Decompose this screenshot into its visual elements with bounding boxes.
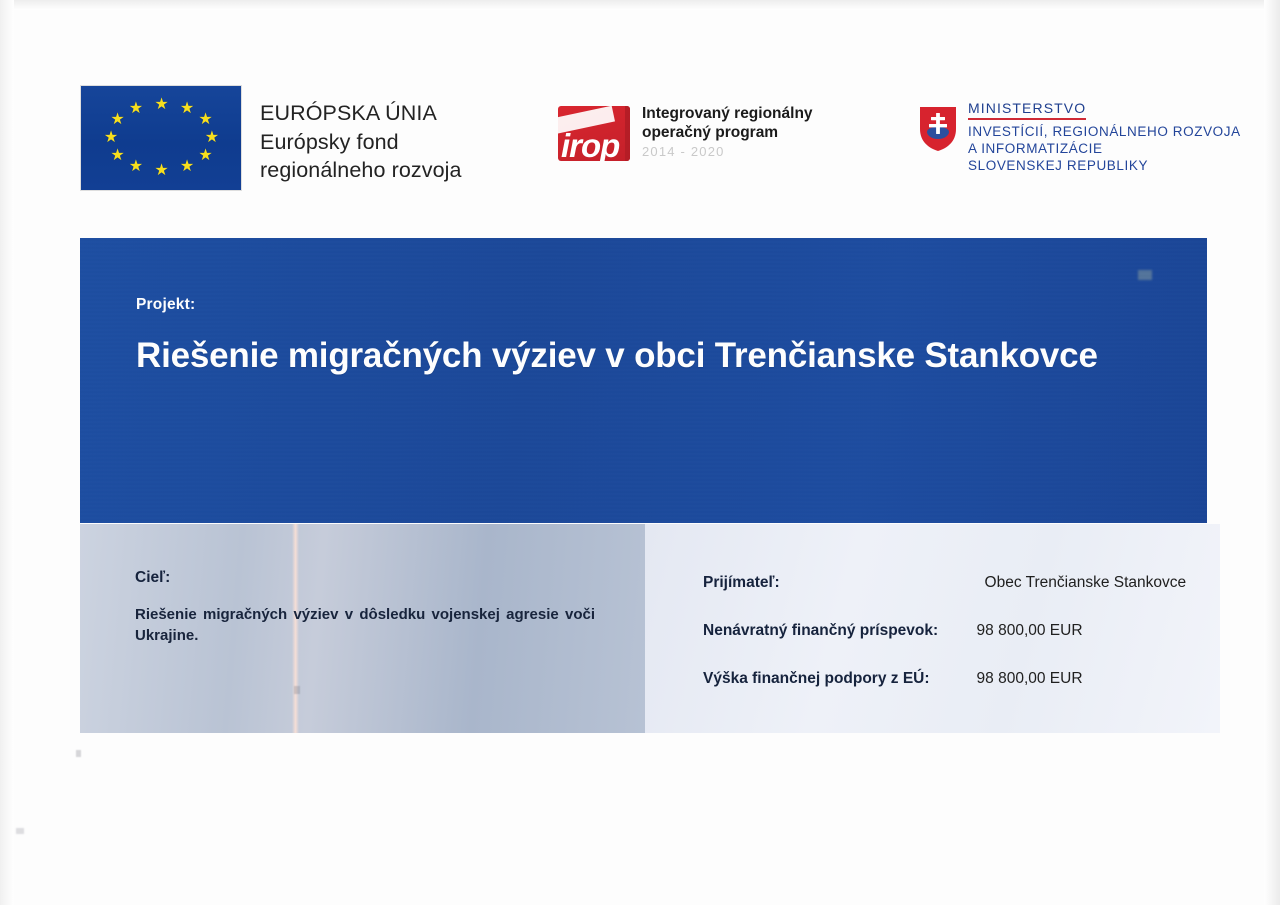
info-value-grant: 98 800,00 EUR <box>977 622 1203 670</box>
irop-wordmark: irop <box>561 127 619 161</box>
info-value-recipient: Obec Trenčianske Stankovce <box>977 574 1203 622</box>
page-title: Riešenie migračných výziev v obci Trenči… <box>136 336 1098 376</box>
document-page: ★ ★ ★ ★ ★ ★ ★ ★ ★ ★ ★ ★ EURÓPSKA ÚNIA Eu… <box>0 0 1280 905</box>
irop-bar <box>625 106 630 161</box>
info-panel: Prijímateľ: Obec Trenčianske Stankovce N… <box>645 524 1220 733</box>
info-label-recipient: Prijímateľ: <box>703 574 977 622</box>
eu-logo-text: EURÓPSKA ÚNIA Európsky fond regionálneho… <box>260 99 462 185</box>
irop-line-2: operačný program <box>642 123 813 142</box>
irop-logo-text: Integrovaný regionálny operačný program … <box>642 104 813 161</box>
table-row: Výška finančnej podpory z EÚ: 98 800,00 … <box>703 670 1203 688</box>
logo-strip: ★ ★ ★ ★ ★ ★ ★ ★ ★ ★ ★ ★ EURÓPSKA ÚNIA Eu… <box>0 78 1280 198</box>
projekt-label: Projekt: <box>136 296 195 314</box>
eu-logo-line-1: EURÓPSKA ÚNIA <box>260 99 462 128</box>
goal-label: Cieľ: <box>135 569 170 587</box>
table-row: Nenávratný finančný príspevok: 98 800,00… <box>703 622 1203 670</box>
scan-edge-top <box>0 0 1280 10</box>
project-banner: Projekt: Riešenie migračných výziev v ob… <box>80 238 1207 523</box>
table-row: Prijímateľ: Obec Trenčianske Stankovce <box>703 574 1203 622</box>
goal-text: Riešenie migračných výziev v dôsledku vo… <box>135 604 595 646</box>
info-label-grant: Nenávratný finančný príspevok: <box>703 622 977 670</box>
irop-logo-icon: irop <box>558 106 630 161</box>
scan-artifact <box>16 828 24 834</box>
goal-panel: Cieľ: Riešenie migračných výziev v dôsle… <box>80 524 645 733</box>
info-value-eu-support: 98 800,00 EUR <box>977 670 1203 688</box>
info-label-eu-support: Výška finančnej podpory z EÚ: <box>703 670 977 688</box>
ministry-line-4: SLOVENSKEJ REPUBLIKY <box>968 157 1241 174</box>
irop-years: 2014 - 2020 <box>642 143 813 161</box>
ministry-line-1: MINISTERSTVO <box>968 99 1086 120</box>
scan-artifact <box>76 750 81 757</box>
ministry-line-2: INVESTÍCIÍ, REGIONÁLNEHO ROZVOJA <box>968 123 1241 140</box>
ministry-logo-text: MINISTERSTVO INVESTÍCIÍ, REGIONÁLNEHO RO… <box>968 99 1241 174</box>
eu-flag-icon: ★ ★ ★ ★ ★ ★ ★ ★ ★ ★ ★ ★ <box>80 85 242 191</box>
eu-logo-line-2: Európsky fond <box>260 128 462 157</box>
irop-line-1: Integrovaný regionálny <box>642 104 813 123</box>
scan-artifact <box>294 686 300 694</box>
scan-artifact <box>1138 270 1152 280</box>
slovak-coat-of-arms-icon <box>918 105 958 153</box>
info-table: Prijímateľ: Obec Trenčianske Stankovce N… <box>703 574 1203 688</box>
eu-logo: ★ ★ ★ ★ ★ ★ ★ ★ ★ ★ ★ ★ EURÓPSKA ÚNIA Eu… <box>80 85 242 191</box>
eu-logo-line-3: regionálneho rozvoja <box>260 156 462 185</box>
ministry-line-3: A INFORMATIZÁCIE <box>968 140 1241 157</box>
